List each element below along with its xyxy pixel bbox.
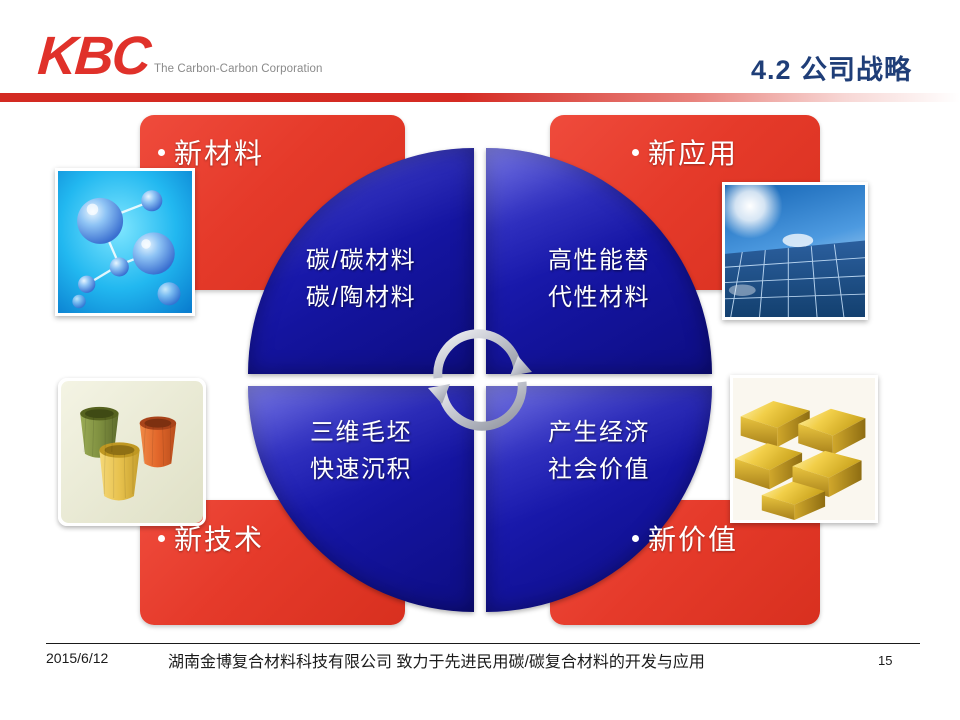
footer-date: 2015/6/12 [46,650,108,666]
solar-panel-photo [722,182,868,320]
bullet-icon [632,535,639,542]
footer-divider [46,643,920,644]
bullet-icon [158,149,165,156]
woven-fiber-preform-photo [58,378,206,526]
callout-label-new-technology: 新技术 [158,518,264,558]
callout-label-new-materials: 新材料 [158,132,264,172]
slide-header: KBC The Carbon-Carbon Corporation 4.2 公司… [0,0,960,100]
preform-crucible-icon [61,381,203,523]
callout-label-new-value: 新价值 [632,518,738,558]
quadrant-3d-preform-deposition [248,386,474,612]
solar-panel-icon [725,185,865,317]
page-title: 4.2 公司战略 [751,48,912,87]
footer-page-number: 15 [878,653,892,668]
gold-bars-photo [730,375,878,523]
quadrant-high-performance-substitute [486,148,712,374]
molecule-illustration [55,168,195,316]
molecule-icon [58,171,192,313]
quadrant-carbon-materials [248,148,474,374]
logo-wordmark: KBC [36,32,150,82]
callout-label-text: 新材料 [174,132,264,172]
callout-label-new-applications: 新应用 [632,132,738,172]
callout-label-text: 新价值 [648,518,738,558]
quadrant-economic-social-value [486,386,712,612]
callout-label-text: 新技术 [174,518,264,558]
logo-tagline: The Carbon-Carbon Corporation [154,63,322,75]
footer-company-text: 湖南金博复合材料科技有限公司 致力于先进民用碳/碳复合材料的开发与应用 [168,648,705,672]
bullet-icon [158,535,165,542]
gold-bars-icon [733,378,875,520]
header-divider [0,93,960,102]
bullet-icon [632,149,639,156]
callout-label-text: 新应用 [648,132,738,172]
company-logo: KBC The Carbon-Carbon Corporation [38,32,322,82]
